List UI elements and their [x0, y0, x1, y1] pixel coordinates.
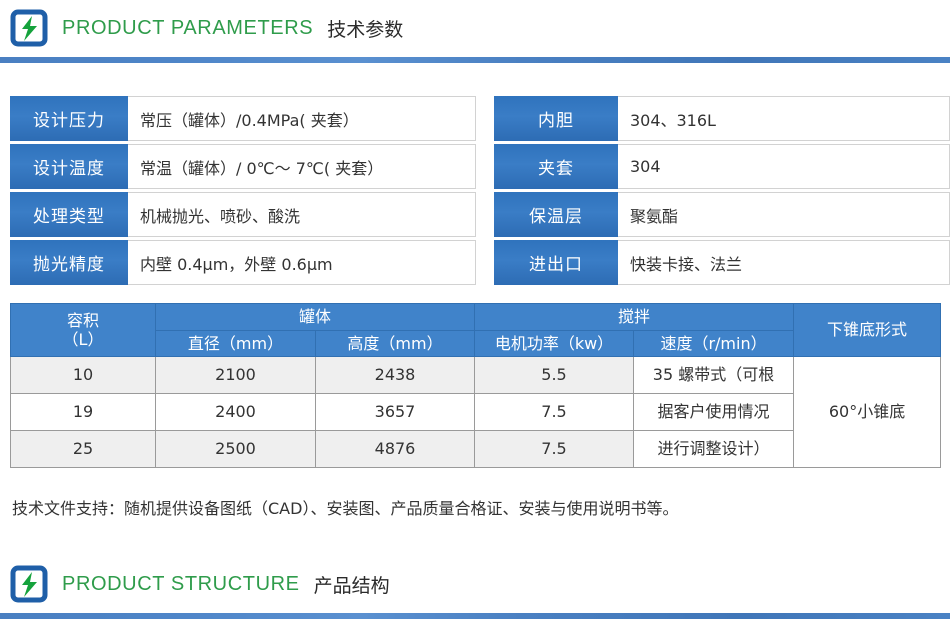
spec-label: 设计压力	[10, 96, 128, 141]
th-motor-power: 电机功率（kw）	[475, 330, 634, 357]
th-volume: 容积 （L）	[11, 304, 156, 357]
cell-cone-bottom-type: 60°小锥底	[794, 357, 941, 468]
spec-item-polish-precision: 抛光精度 内壁 0.4μm，外壁 0.6μm	[10, 240, 476, 285]
logo-lightning-square-icon	[10, 565, 48, 603]
section-divider-bar	[0, 57, 950, 63]
spec-item-treatment-type: 处理类型 机械抛光、喷砂、酸洗	[10, 192, 476, 237]
th-height: 高度（mm）	[316, 330, 475, 357]
product-parameters-page: PRODUCT PARAMETERS 技术参数 设计压力 常压（罐体）/0.4M…	[0, 0, 950, 623]
section-title-en: PRODUCT STRUCTURE	[62, 573, 300, 596]
spec-label: 设计温度	[10, 144, 128, 189]
specification-table-wrapper: 容积 （L） 罐体 搅拌 下锥底形式 直径（mm） 高度（mm） 电机功率（kw…	[10, 303, 940, 468]
section-title-cn: 技术参数	[327, 15, 403, 42]
cell-height: 3657	[316, 394, 475, 431]
cell-volume: 19	[11, 394, 156, 431]
technical-document-note: 技术文件支持：随机提供设备图纸（CAD）、安装图、产品质量合格证、安装与使用说明…	[12, 495, 942, 519]
section-header-parameters: PRODUCT PARAMETERS 技术参数	[0, 0, 950, 68]
cell-diameter: 2400	[156, 394, 316, 431]
cell-diameter: 2500	[156, 431, 316, 468]
cell-volume: 25	[11, 431, 156, 468]
spec-label: 夹套	[494, 144, 618, 189]
spec-row: 设计温度 常温（罐体）/ 0℃～ 7℃( 夹套） 夹套 304	[0, 144, 950, 189]
cell-diameter: 2100	[156, 357, 316, 394]
spec-value: 快装卡接、法兰	[618, 240, 950, 285]
spec-label: 抛光精度	[10, 240, 128, 285]
th-volume-line1: 容积	[67, 311, 99, 330]
spec-label: 内胆	[494, 96, 618, 141]
cell-speed: 进行调整设计）	[634, 431, 794, 468]
spec-value: 聚氨酯	[618, 192, 950, 237]
spec-value: 304	[618, 144, 950, 189]
spec-value: 常压（罐体）/0.4MPa( 夹套）	[128, 96, 476, 141]
section-title-en: PRODUCT PARAMETERS	[62, 17, 313, 40]
cell-motor-power: 5.5	[475, 357, 634, 394]
section-header-structure: PRODUCT STRUCTURE 产品结构	[0, 556, 950, 623]
spec-row: 设计压力 常压（罐体）/0.4MPa( 夹套） 内胆 304、316L	[0, 96, 950, 141]
cell-motor-power: 7.5	[475, 394, 634, 431]
section-title-cn: 产品结构	[314, 571, 390, 598]
th-group-agitation: 搅拌	[475, 304, 794, 331]
spec-item-jacket: 夹套 304	[494, 144, 950, 189]
spec-row: 处理类型 机械抛光、喷砂、酸洗 保温层 聚氨酯	[0, 192, 950, 237]
cell-height: 2438	[316, 357, 475, 394]
th-group-tank: 罐体	[156, 304, 475, 331]
th-cone-bottom-type: 下锥底形式	[794, 304, 941, 357]
cell-speed: 35 螺带式（可根	[634, 357, 794, 394]
spec-row: 抛光精度 内壁 0.4μm，外壁 0.6μm 进出口 快装卡接、法兰	[0, 240, 950, 285]
spec-label: 进出口	[494, 240, 618, 285]
spec-item-design-temperature: 设计温度 常温（罐体）/ 0℃～ 7℃( 夹套）	[10, 144, 476, 189]
cell-motor-power: 7.5	[475, 431, 634, 468]
spec-item-inner-tank: 内胆 304、316L	[494, 96, 950, 141]
section-header-row: PRODUCT STRUCTURE 产品结构	[0, 556, 950, 612]
spec-item-design-pressure: 设计压力 常压（罐体）/0.4MPa( 夹套）	[10, 96, 476, 141]
spec-value: 内壁 0.4μm，外壁 0.6μm	[128, 240, 476, 285]
table-header-row-1: 容积 （L） 罐体 搅拌 下锥底形式	[11, 304, 941, 331]
th-diameter: 直径（mm）	[156, 330, 316, 357]
spec-grid: 设计压力 常压（罐体）/0.4MPa( 夹套） 内胆 304、316L 设计温度…	[0, 96, 950, 288]
specification-table: 容积 （L） 罐体 搅拌 下锥底形式 直径（mm） 高度（mm） 电机功率（kw…	[10, 303, 941, 468]
th-speed: 速度（r/min）	[634, 330, 794, 357]
spec-label: 保温层	[494, 192, 618, 237]
cell-height: 4876	[316, 431, 475, 468]
spec-item-inlet-outlet: 进出口 快装卡接、法兰	[494, 240, 950, 285]
section-divider-bar	[0, 613, 950, 619]
table-row: 10 2100 2438 5.5 35 螺带式（可根 60°小锥底	[11, 357, 941, 394]
cell-volume: 10	[11, 357, 156, 394]
spec-item-insulation-layer: 保温层 聚氨酯	[494, 192, 950, 237]
spec-value: 常温（罐体）/ 0℃～ 7℃( 夹套）	[128, 144, 476, 189]
spec-value: 机械抛光、喷砂、酸洗	[128, 192, 476, 237]
logo-lightning-square-icon	[10, 9, 48, 47]
th-volume-line2: （L）	[63, 330, 104, 349]
spec-value: 304、316L	[618, 96, 950, 141]
section-header-row: PRODUCT PARAMETERS 技术参数	[0, 0, 950, 56]
spec-label: 处理类型	[10, 192, 128, 237]
cell-speed: 据客户使用情况	[634, 394, 794, 431]
